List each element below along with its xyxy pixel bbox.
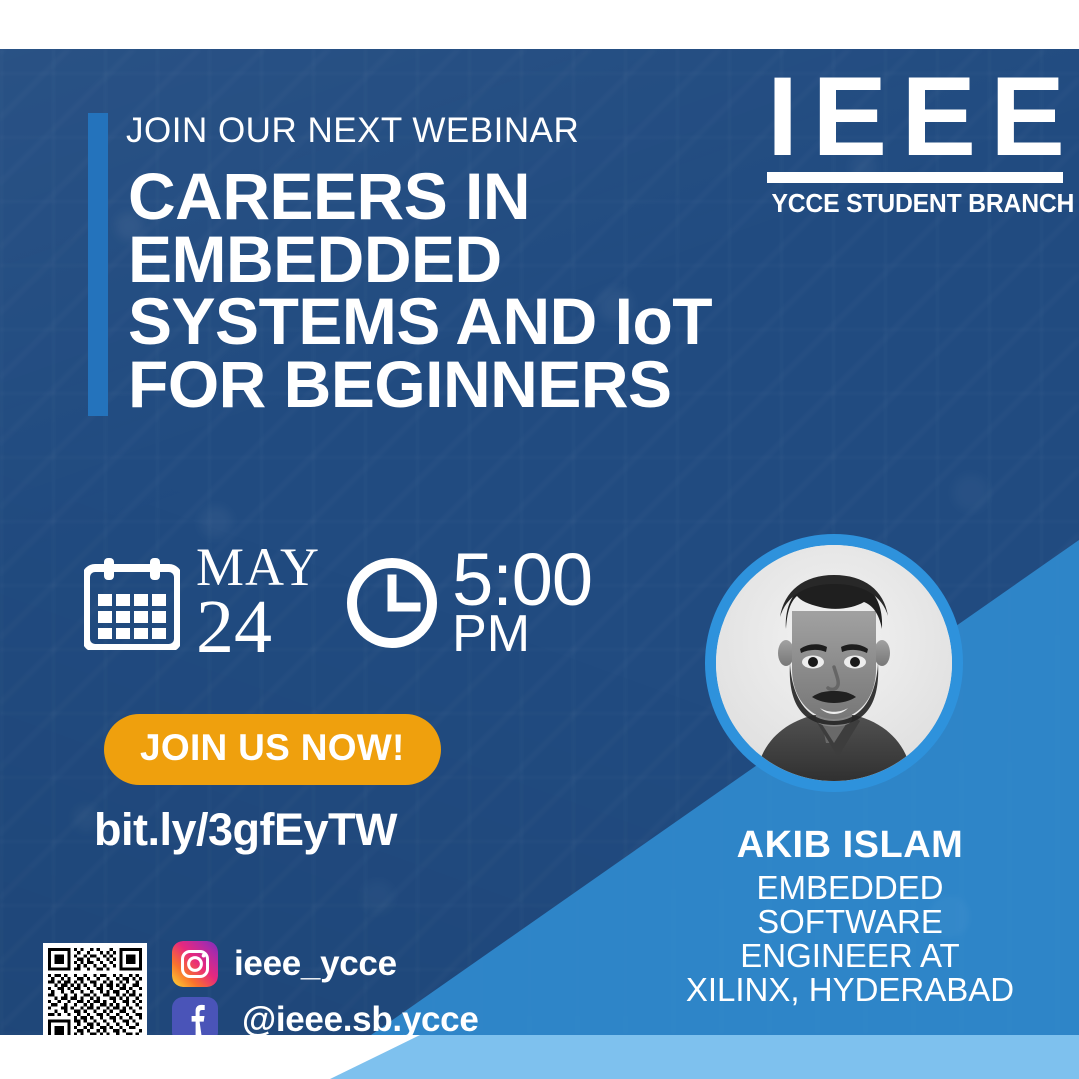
webinar-poster: I E E E YCCE STUDENT BRANCH 31221 JOIN O… — [0, 0, 1079, 1079]
speaker-role-line-3: ENGINEER AT — [640, 939, 1060, 973]
ieee-letter-2: E — [812, 69, 885, 165]
join-us-now-button[interactable]: JOIN US NOW! — [104, 714, 441, 785]
speaker-role-line-1: EMBEDDED — [640, 871, 1060, 905]
calendar-icon — [84, 556, 180, 650]
facebook-handle: @ieee.sb.ycce — [242, 1000, 479, 1035]
footer-diagonal-wedge — [0, 1035, 1079, 1079]
clock-icon — [346, 557, 438, 649]
facebook-icon — [172, 997, 218, 1035]
qr-code-matrix — [48, 948, 142, 1035]
ieee-letter-4: E — [990, 69, 1063, 165]
poster-artwork: I E E E YCCE STUDENT BRANCH 31221 JOIN O… — [0, 49, 1079, 1035]
speaker-role: EMBEDDED SOFTWARE ENGINEER AT XILINX, HY… — [640, 871, 1060, 1007]
headline-line-4: FOR BEGINNERS — [128, 353, 828, 416]
ieee-wordmark: I E E E — [767, 69, 1063, 165]
instagram-icon — [172, 941, 218, 987]
headline-line-3: SYSTEMS AND IoT — [128, 290, 828, 353]
speaker-photo — [716, 545, 952, 781]
speaker-portrait — [716, 545, 952, 781]
instagram-row[interactable]: ieee_ycce — [172, 941, 397, 987]
qr-code-icon[interactable] — [43, 943, 147, 1035]
ieee-letter-3: E — [901, 69, 974, 165]
speaker-name: AKIB ISLAM — [640, 824, 1060, 867]
event-time-text: 5:00 PM — [452, 547, 592, 658]
avatar — [705, 534, 963, 792]
speaker-role-line-4: XILINX, HYDERABAD — [640, 973, 1060, 1007]
event-datetime: MAY 24 5:00 PM — [84, 543, 592, 663]
headline-line-2: EMBEDDED — [128, 228, 828, 291]
kicker-text: JOIN OUR NEXT WEBINAR — [126, 111, 579, 151]
event-date-text: MAY 24 — [196, 543, 320, 663]
registration-link[interactable]: bit.ly/3gfEyTW — [94, 804, 397, 856]
speaker-info: AKIB ISLAM EMBEDDED SOFTWARE ENGINEER AT… — [640, 824, 1060, 1007]
facebook-row[interactable]: @ieee.sb.ycce — [172, 997, 479, 1035]
event-day: 24 — [196, 593, 320, 663]
accent-bar — [88, 113, 108, 416]
headline-line-1: CAREERS IN — [128, 165, 828, 228]
event-time: 5:00 — [452, 547, 592, 612]
instagram-handle: ieee_ycce — [234, 944, 397, 984]
page-title: CAREERS IN EMBEDDED SYSTEMS AND IoT FOR … — [128, 165, 828, 416]
ieee-letter-1: I — [767, 69, 796, 165]
speaker-role-line-2: SOFTWARE — [640, 905, 1060, 939]
footer-band — [0, 1035, 1079, 1079]
